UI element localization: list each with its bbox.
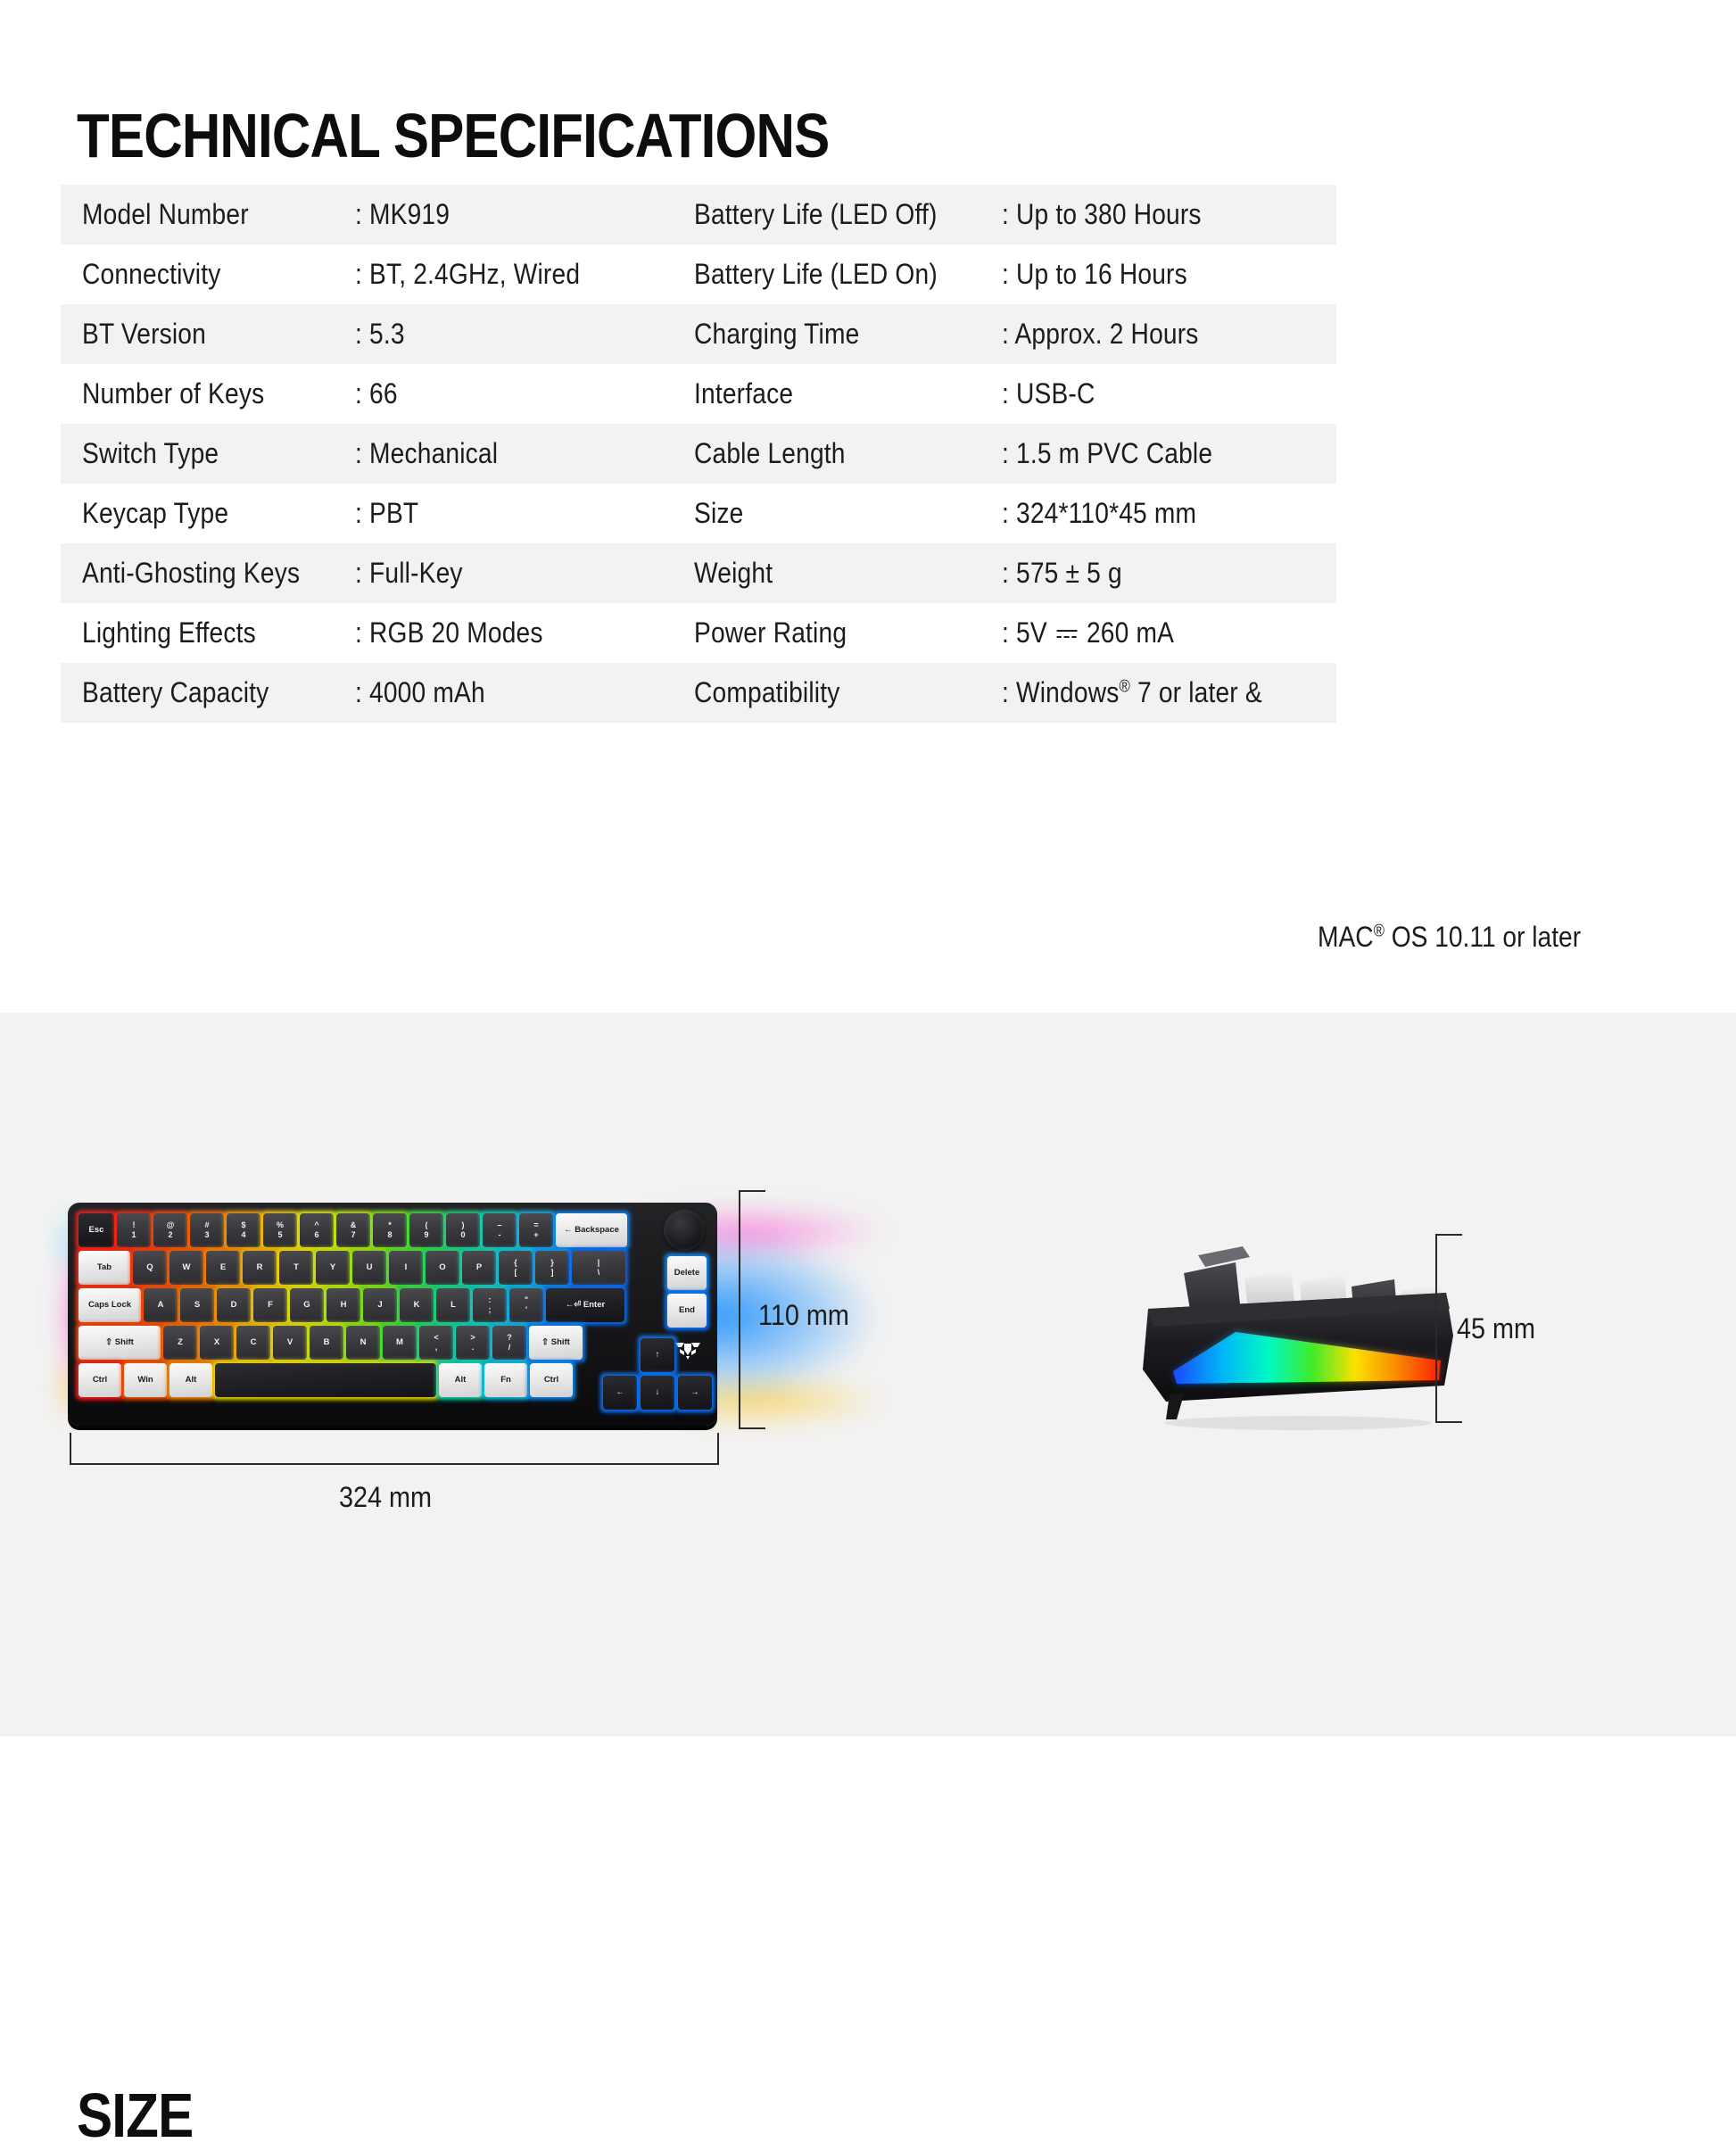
keycap-2[interactable]: @2 [153,1213,187,1247]
compatibility-prefix: : Windows [1002,676,1119,708]
table-row: Switch Type : Mechanical Cable Length : … [61,424,1336,484]
keycap-space[interactable]: <, [419,1326,453,1360]
keycap-legend: Z [178,1337,183,1347]
keycap-5[interactable]: %5 [263,1213,297,1247]
keycap-space[interactable]: =+ [519,1213,553,1247]
spec-label-cell: Connectivity [61,244,355,304]
spec-value2-cell: : 5V 260 mA [1002,603,1336,663]
compatibility-value: : Windows® 7 or later & [1002,676,1262,709]
keycap-legend-top: % [277,1220,284,1230]
keycap-d[interactable]: D [217,1288,251,1322]
keycap-legend: Tab [97,1262,112,1272]
keycap-legend: Fn [500,1375,511,1385]
keycap-legend: ←⏎ Enter [566,1300,605,1310]
keycap-legend: S [194,1300,200,1310]
keycap-tab[interactable]: Tab [79,1251,130,1285]
table-row: Keycap Type : PBT Size : 324*110*45 mm [61,484,1336,543]
keycap-space[interactable]: |\ [572,1251,625,1285]
keycap-legend: Alt [455,1375,467,1385]
keycap-t[interactable]: T [279,1251,313,1285]
keycap-n[interactable]: N [346,1326,380,1360]
spec-value-cell: : 4000 mAh [355,663,694,723]
keycap-k[interactable]: K [400,1288,434,1322]
width-bracket-tick-left [70,1433,71,1465]
keycap-a[interactable]: A [144,1288,178,1322]
keycap-9[interactable]: (9 [409,1213,443,1247]
keycap-space[interactable]: –- [483,1213,517,1247]
keycap-legend: I [405,1262,408,1272]
height-bracket-line [739,1190,740,1429]
keycap-l[interactable]: L [436,1288,470,1322]
depth-bracket-tick-bottom [1435,1421,1462,1423]
keycap-legend: 8 [387,1230,392,1240]
keycap-o[interactable]: O [426,1251,459,1285]
keycap-space[interactable]: {[ [499,1251,533,1285]
keycap-p[interactable]: P [462,1251,496,1285]
keycap-enter[interactable]: ←⏎ Enter [546,1288,624,1322]
keycap-space[interactable]: ?/ [492,1326,526,1360]
spec-value-cell: : Mechanical [355,424,694,484]
keycap-shift[interactable]: ⇧ Shift [529,1326,583,1360]
specifications-table: Model Number : MK919 Battery Life (LED O… [61,185,1336,723]
keycap-legend: ] [551,1268,554,1278]
keycap-legend: 3 [204,1230,209,1240]
keycap-delete[interactable]: Delete [667,1256,707,1290]
keycap-esc[interactable]: Esc [79,1213,114,1247]
keycap-legend-top: $ [241,1220,245,1230]
spec-value2-cell: : USB-C [1002,364,1336,424]
keycap-z[interactable]: Z [163,1326,197,1360]
technical-specifications-section: TECHNICAL SPECIFICATIONS Model Number : … [0,0,1736,1013]
spec-label-cell: Battery Capacity [61,663,355,723]
spec-label2-cell: Interface [694,364,1002,424]
keycap-legend: N [360,1337,367,1347]
keycap-legend: M [396,1337,403,1347]
spec-label2-cell: Battery Life (LED On) [694,244,1002,304]
keycap-space[interactable]: :; [473,1288,507,1322]
keycap-arrow-right[interactable]: → [678,1376,712,1410]
keycap-legend: R [257,1262,263,1272]
keycap-legend: 5 [277,1230,282,1240]
spec-label-cell: Lighting Effects [61,603,355,663]
keyboard-top-view: Esc!1@2#3$4%5^6&7*8(9)0–-=+← BackspaceTa… [54,1203,946,1452]
keycap-v[interactable]: V [273,1326,307,1360]
keycap-legend: W [183,1262,191,1272]
keycap-legend: L [451,1300,456,1310]
keycap-legend: Win [137,1375,153,1385]
keycap-ctrl[interactable]: Ctrl [530,1363,573,1397]
keyboard-body: Esc!1@2#3$4%5^6&7*8(9)0–-=+← BackspaceTa… [68,1203,717,1426]
keycap-legend: G [303,1300,310,1310]
keycap-legend: ← Backspace [564,1225,619,1235]
keycap-i[interactable]: I [389,1251,423,1285]
keycap-caps-lock[interactable]: Caps Lock [79,1288,141,1322]
keycap-legend: ' [525,1305,527,1315]
spec-value2-cell: : Approx. 2 Hours [1002,304,1336,364]
keycap-backspace[interactable]: ← Backspace [556,1213,627,1247]
keycap-legend: C [251,1337,257,1347]
keycap-legend: P [476,1262,482,1272]
registered-mark-icon: ® [1374,922,1385,940]
height-dimension-label: 110 mm [758,1299,849,1332]
keycap-g[interactable]: G [290,1288,324,1322]
keycap-legend: ↓ [656,1387,660,1397]
compatibility-suffix: 7 or later & [1130,676,1262,708]
size-title: SIZE [77,2080,193,2151]
spec-label-cell: Number of Keys [61,364,355,424]
spec-value2-cell: : Up to 16 Hours [1002,244,1336,304]
keycap-legend-top: = [533,1220,538,1230]
keycap-f[interactable]: F [253,1288,287,1322]
keycap-arrow-up[interactable]: ↑ [641,1338,674,1372]
spec-label-cell: Model Number [61,185,355,244]
table-row: Lighting Effects : RGB 20 Modes Power Ra… [61,603,1336,663]
keycap-legend: 1 [131,1230,136,1240]
table-row: Number of Keys : 66 Interface : USB-C [61,364,1336,424]
keycap-legend-top: ) [462,1220,465,1230]
keycap-legend: \ [598,1268,600,1278]
keycap-legend-top: ? [507,1333,512,1343]
keycap-legend: Q [146,1262,153,1272]
spec-label2-cell: Weight [694,543,1002,603]
mac-suffix: OS 10.11 or later [1385,921,1581,953]
width-bracket-line [70,1463,719,1465]
keycap-r[interactable]: R [243,1251,277,1285]
keycap-legend-top: & [351,1220,357,1230]
keycap-y[interactable]: Y [316,1251,350,1285]
fantech-logo-icon [673,1341,703,1361]
keycap-legend-top: # [204,1220,209,1230]
registered-mark-icon: ® [1119,677,1129,696]
keycap-e[interactable]: E [206,1251,240,1285]
keycap-legend: Alt [186,1375,197,1385]
keycap-legend: 0 [460,1230,465,1240]
keycap-legend-top: * [388,1220,392,1230]
depth-dimension-label: 45 mm [1457,1312,1535,1345]
keycap-legend: F [268,1300,273,1310]
keycap-space[interactable]: }] [535,1251,569,1285]
keycap-j[interactable]: J [363,1288,397,1322]
keycap-c[interactable]: C [236,1326,270,1360]
keycap-win[interactable]: Win [124,1363,167,1397]
spec-value-cell: : RGB 20 Modes [355,603,694,663]
keycap-legend-top: ( [426,1220,428,1230]
keycap-legend: A [158,1300,164,1310]
keycap-legend-top: ^ [314,1220,318,1230]
keycap-b[interactable]: B [310,1326,343,1360]
keycap-space[interactable] [215,1363,436,1397]
keycap-legend: J [377,1300,382,1310]
spec-value2-cell: : 324*110*45 mm [1002,484,1336,543]
page-title: TECHNICAL SPECIFICATIONS [77,100,829,171]
keycap-u[interactable]: U [352,1251,386,1285]
keycap-space[interactable]: "' [509,1288,543,1322]
keycap-legend: + [533,1230,538,1240]
keycap-legend: 9 [424,1230,428,1240]
keycap-legend-top: " [525,1295,528,1305]
keycap-legend: E [220,1262,226,1272]
width-bracket-tick-right [717,1433,719,1465]
keycap-legend: , [435,1343,438,1353]
keycap-legend: ↑ [656,1350,660,1360]
height-bracket-tick-top [739,1190,765,1192]
power-rating-prefix: : 5V [1002,616,1047,649]
table-row: Connectivity : BT, 2.4GHz, Wired Battery… [61,244,1336,304]
keycap-7[interactable]: &7 [336,1213,370,1247]
power-rating-suffix: 260 mA [1087,616,1174,649]
keycap-legend: X [214,1337,219,1347]
keycap-legend: B [324,1337,330,1347]
power-rating-value: : 5V 260 mA [1002,616,1174,649]
keycap-legend: ⇧ Shift [541,1337,570,1347]
spec-value-cell: : BT, 2.4GHz, Wired [355,244,694,304]
spec-label2-cell: Size [694,484,1002,543]
keycap-h[interactable]: H [327,1288,360,1322]
keycap-legend: V [287,1337,293,1347]
keycap-1[interactable]: !1 [117,1213,151,1247]
keycap-legend: [ [515,1268,517,1278]
keycap-arrow-down[interactable]: ↓ [641,1376,674,1410]
spec-value2-cell: : 575 ± 5 g [1002,543,1336,603]
keycap-alt[interactable]: Alt [169,1363,212,1397]
keycap-legend: Delete [674,1268,700,1278]
table-row: BT Version : 5.3 Charging Time : Approx.… [61,304,1336,364]
keycap-legend: → [690,1387,699,1397]
keycap-end[interactable]: End [667,1294,707,1328]
spec-label2-cell: Cable Length [694,424,1002,484]
keyboard-side-illustration [1084,1227,1459,1459]
keycap-legend: U [367,1262,373,1272]
keycap-legend-top: { [514,1258,517,1268]
keycap-legend: - [499,1230,501,1240]
keycap-legend-top: : [489,1295,492,1305]
keycap-legend: Ctrl [93,1375,107,1385]
spec-value-cell: : 5.3 [355,304,694,364]
spec-label-cell: Keycap Type [61,484,355,543]
keycap-legend: 7 [351,1230,355,1240]
keycap-w[interactable]: W [169,1251,203,1285]
keycap-legend: ⇧ Shift [105,1337,134,1347]
keycap-legend-top: @ [167,1220,175,1230]
keycap-legend-top: ! [133,1220,136,1230]
volume-knob[interactable] [664,1210,705,1251]
keycap-4[interactable]: $4 [227,1213,260,1247]
keyboard-side-view: 45 mm [1084,1227,1459,1459]
table-row: Anti-Ghosting Keys : Full-Key Weight : 5… [61,543,1336,603]
keycap-6[interactable]: ^6 [300,1213,334,1247]
keycap-legend: 6 [314,1230,318,1240]
keycap-legend: 4 [241,1230,245,1240]
spec-label2-cell: Charging Time [694,304,1002,364]
keycap-legend: 2 [168,1230,172,1240]
depth-bracket-line [1435,1234,1437,1423]
keycap-legend: End [679,1305,695,1315]
keycap-legend: ; [489,1305,492,1315]
keycap-space[interactable]: >. [456,1326,490,1360]
spec-value2-cell: : Up to 380 Hours [1002,185,1336,244]
keycap-legend: O [439,1262,445,1272]
spec-label-cell: BT Version [61,304,355,364]
keycap-shift[interactable]: ⇧ Shift [79,1326,161,1360]
height-bracket-tick-bottom [739,1427,765,1429]
keycap-legend: H [341,1300,347,1310]
keycap-legend: ← [616,1387,624,1397]
keycap-0[interactable]: )0 [446,1213,480,1247]
keycap-ctrl[interactable]: Ctrl [79,1363,121,1397]
keycap-legend: / [508,1343,511,1353]
keycap-legend: T [293,1262,299,1272]
keycap-fn[interactable]: Fn [484,1363,527,1397]
compatibility-wrap-line: MAC® OS 10.11 or later [1318,921,1581,954]
keycap-legend-top: | [598,1258,600,1268]
keycap-legend-top: – [497,1220,501,1230]
mac-prefix: MAC [1318,921,1374,953]
keycap-legend-top: > [470,1333,475,1343]
spec-label-cell: Switch Type [61,424,355,484]
keycap-legend: . [472,1343,475,1353]
dc-power-icon [1056,629,1077,641]
keycap-legend: D [231,1300,237,1310]
keycap-s[interactable]: S [180,1288,214,1322]
spec-value-cell: : PBT [355,484,694,543]
keycap-legend-top: < [434,1333,438,1343]
keycap-x[interactable]: X [200,1326,234,1360]
keycap-legend-top: } [550,1258,554,1268]
spec-label-cell: Anti-Ghosting Keys [61,543,355,603]
spec-value2-cell: : Windows® 7 or later & [1002,663,1336,723]
spec-value-cell: : MK919 [355,185,694,244]
table-row: Battery Capacity : 4000 mAh Compatibilit… [61,663,1336,723]
keycap-legend: K [414,1300,420,1310]
keycap-legend: Esc [89,1225,104,1235]
spec-value-cell: : 66 [355,364,694,424]
keycap-8[interactable]: *8 [373,1213,407,1247]
keycap-m[interactable]: M [383,1326,417,1360]
keycap-alt[interactable]: Alt [439,1363,482,1397]
spec-value-cell: : Full-Key [355,543,694,603]
keycap-3[interactable]: #3 [190,1213,224,1247]
keycap-q[interactable]: Q [133,1251,167,1285]
width-dimension-label: 324 mm [339,1481,432,1514]
keycap-legend: Caps Lock [88,1300,131,1310]
spec-label2-cell: Power Rating [694,603,1002,663]
keycap-arrow-left[interactable]: ← [603,1376,637,1410]
keycap-legend: Y [330,1262,335,1272]
table-row: Model Number : MK919 Battery Life (LED O… [61,185,1336,244]
spec-value2-cell: : 1.5 m PVC Cable [1002,424,1336,484]
depth-bracket-tick-top [1435,1234,1462,1236]
spec-label2-cell: Battery Life (LED Off) [694,185,1002,244]
spec-label2-cell: Compatibility [694,663,1002,723]
keycap-legend: Ctrl [544,1375,558,1385]
